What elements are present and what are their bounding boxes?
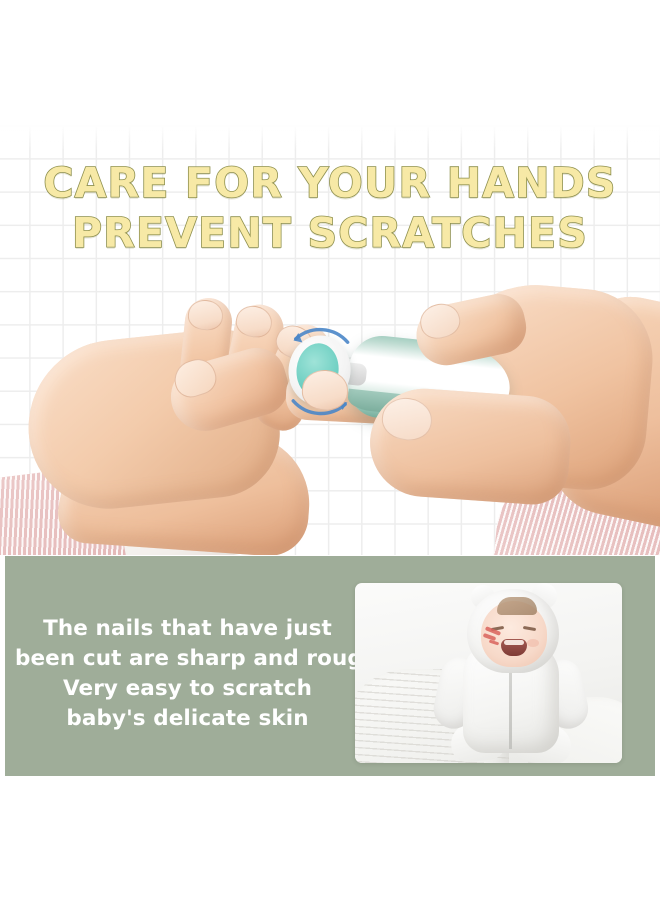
product-banner: CARE FOR YOUR HANDS PREVENT SCRATCHES Th…: [0, 0, 660, 900]
info-line-3: Very easy to scratch: [15, 674, 360, 704]
baby-hair: [497, 597, 537, 615]
hands-and-device-photo: [0, 0, 660, 555]
crying-baby-photo: [355, 583, 622, 763]
info-line-4: baby's delicate skin: [15, 704, 360, 734]
baby-cheek: [527, 639, 539, 647]
baby-mouth-crying: [501, 639, 527, 656]
info-panel-text: The nails that have just been cut are sh…: [15, 614, 360, 734]
hero-section: CARE FOR YOUR HANDS PREVENT SCRATCHES: [0, 0, 660, 555]
info-panel: The nails that have just been cut are sh…: [5, 556, 655, 776]
info-line-1: The nails that have just: [15, 614, 360, 644]
info-line-2: been cut are sharp and rough: [15, 644, 360, 674]
